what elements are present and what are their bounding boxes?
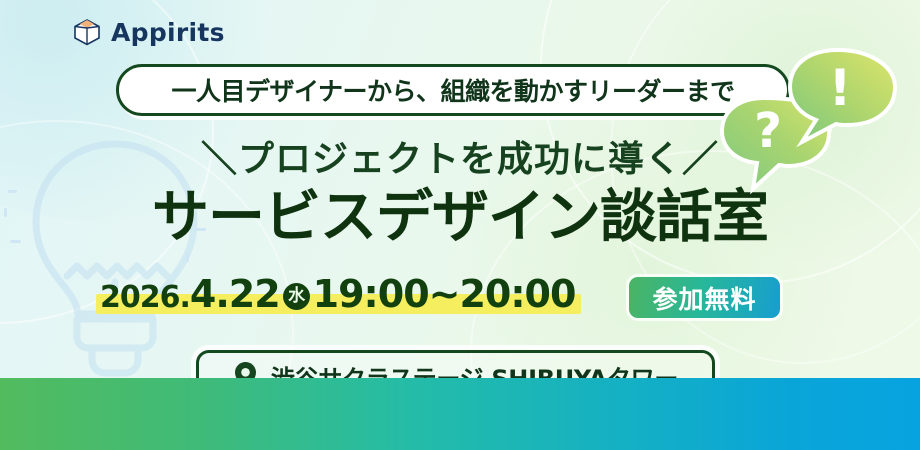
sparkle-dot (186, 252, 189, 262)
logo-text: Appirits (111, 18, 225, 47)
schedule-year: 2026. (100, 280, 190, 315)
cube-icon (72, 17, 102, 47)
schedule-row: 2026.4.22水19:00~20:00 (100, 272, 575, 316)
schedule-day-of-week: 水 (283, 283, 310, 310)
status-badge: 参加無料 (629, 277, 780, 318)
schedule-time: 19:00~20:00 (313, 272, 576, 316)
appirits-logo: Appirits (72, 17, 225, 47)
bubble-question-mark: ? (754, 103, 782, 159)
schedule-date: 4.22 (190, 272, 280, 316)
headline-pill: 一人目デザイナーから、組織を動かすリーダーまで (116, 64, 790, 116)
event-banner: Appirits 一人目デザイナーから、組織を動かすリーダーまで ＼プロジェクト… (0, 0, 920, 450)
schedule-text: 2026.4.22水19:00~20:00 (100, 272, 575, 316)
bottom-gradient-bar (0, 378, 920, 450)
badge-label: 参加無料 (652, 280, 756, 316)
headline-text: 一人目デザイナーから、組織を動かすリーダーまで (171, 72, 734, 108)
speech-bubbles-decoration: ? ! (718, 42, 918, 222)
bubble-exclaim-mark: ! (829, 59, 852, 117)
